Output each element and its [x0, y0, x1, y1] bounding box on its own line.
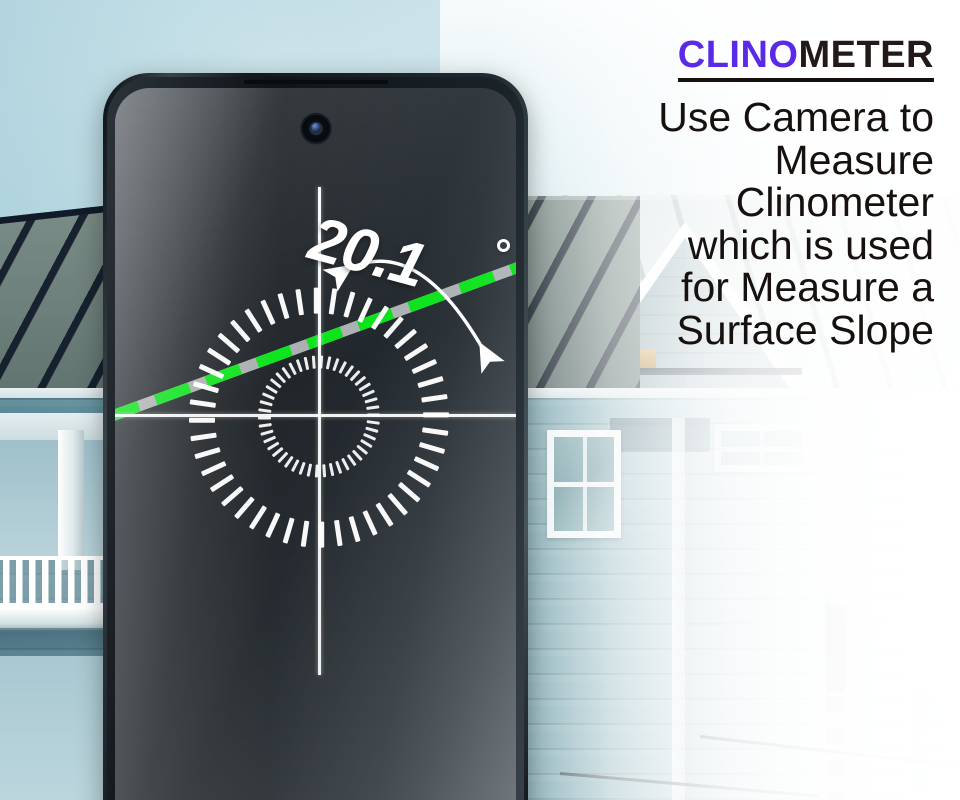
tagline-text: Use Camera toMeasureClinometerwhich is u… — [514, 96, 934, 352]
tagline-line-0: Use Camera to — [514, 96, 934, 139]
app-title-accent: CLINO — [678, 34, 799, 76]
phone-device: 20.1 — [103, 73, 528, 800]
screen-glass-reflection — [115, 88, 516, 800]
app-title: CLINOMETER — [678, 36, 934, 82]
app-title-rest: METER — [799, 34, 935, 76]
tagline-line-3: which is used — [514, 224, 934, 267]
tagline-line-1: Measure — [514, 139, 934, 182]
porch-column-1 — [58, 430, 84, 570]
phone-screen-viewfinder[interactable]: 20.1 — [115, 88, 516, 800]
tagline-line-4: for Measure a — [514, 266, 934, 309]
tagline-line-5: Surface Slope — [514, 309, 934, 352]
phone-earpiece-speaker — [244, 80, 388, 84]
tagline-line-2: Clinometer — [514, 181, 934, 224]
screenshot-root: 20.1 CLINOMETER Use Camera toMeasureClin… — [0, 0, 960, 800]
marketing-text-panel: CLINOMETER Use Camera toMeasureClinomete… — [514, 36, 934, 352]
front-camera-lens-icon — [311, 123, 320, 132]
